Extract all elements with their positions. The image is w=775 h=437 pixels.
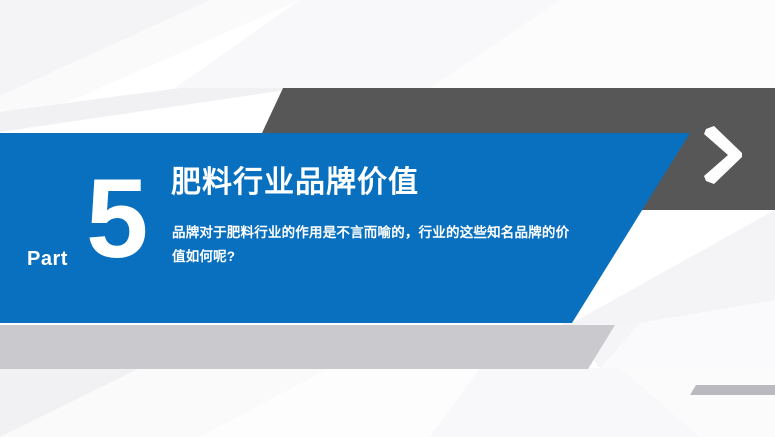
light-gray-accent-bar [0, 325, 640, 369]
light-gray-accent-bar-small [690, 385, 775, 395]
slide-subtitle: 品牌对于肥料行业的作用是不言而喻的，行业的这些知名品牌的价值如何呢? [172, 221, 572, 268]
chevron-right-icon[interactable] [700, 126, 744, 184]
presentation-slide: Part 5 肥料行业品牌价值 品牌对于肥料行业的作用是不言而喻的，行业的这些知… [0, 0, 775, 437]
part-label: Part [27, 249, 68, 269]
slide-title: 肥料行业品牌价值 [171, 166, 419, 201]
part-number: 5 [86, 163, 146, 275]
